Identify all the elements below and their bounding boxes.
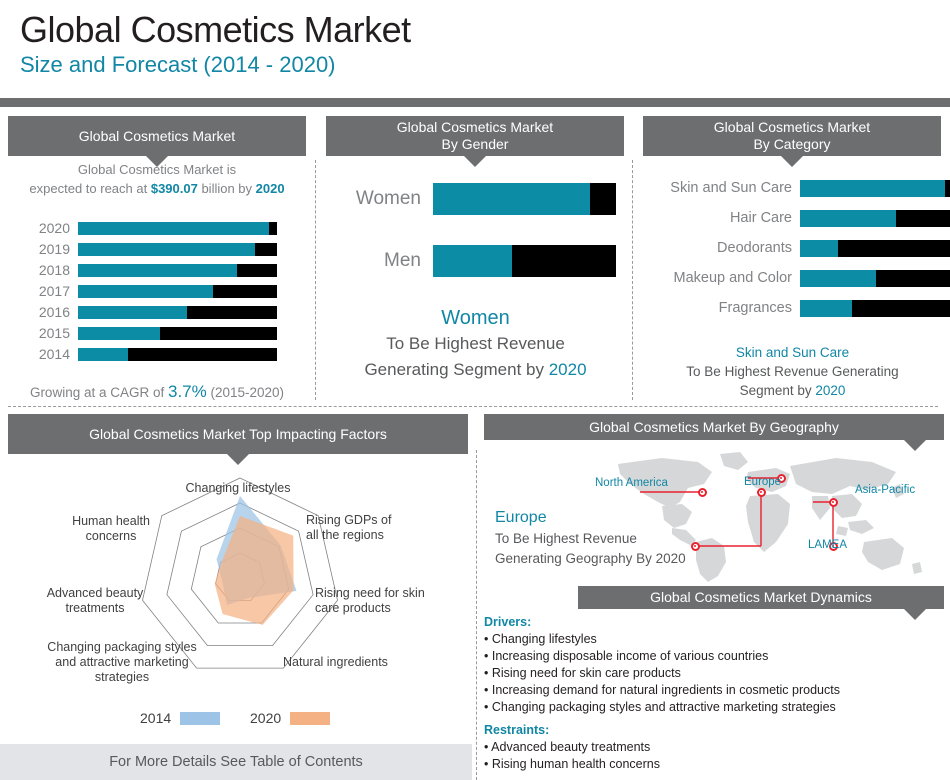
map-region-label[interactable]: Asia-Pacific — [855, 484, 915, 497]
caret-down-icon — [227, 454, 249, 465]
panel-header-dynamics-label: Global Cosmetics Market Dynamics — [650, 589, 872, 606]
category-bar-row: Fragrances — [644, 300, 944, 317]
radar-axis-label: Natural ingredients — [283, 655, 393, 670]
market-cagr-text: Growing at a CAGR of 3.7% (2015-2020) — [8, 382, 306, 402]
cagr-suffix: (2015-2020) — [207, 385, 284, 400]
legend-label: 2020 — [250, 710, 281, 726]
gender-summary-pre: Generating Segment by — [364, 360, 548, 379]
gender-bar-fill — [433, 183, 590, 215]
year-bar-label: 2016 — [20, 306, 70, 319]
year-bar-fill — [78, 264, 237, 277]
dynamics-item: • Rising human health concerns — [484, 756, 944, 773]
panel-header-category: Global Cosmetics Market By Category — [643, 116, 941, 156]
year-bar-track — [78, 243, 277, 256]
year-bar-fill — [78, 285, 213, 298]
year-bar-row: 2018 — [20, 264, 300, 277]
category-bar-label: Fragrances — [644, 300, 792, 317]
geography-highlight: Europe — [495, 508, 705, 528]
gender-summary-line1: To Be Highest Revenue — [328, 331, 623, 357]
year-bar-fill — [78, 243, 255, 256]
category-summary-year: 2020 — [815, 383, 845, 398]
map-marker-dot[interactable] — [698, 488, 707, 497]
caret-down-icon — [781, 156, 803, 167]
map-region-label[interactable]: North America — [595, 477, 668, 490]
radar-axis-label: Rising GDPs of all the regions — [306, 513, 398, 543]
category-bar-track — [800, 300, 950, 317]
category-bar-row: Makeup and Color — [644, 270, 944, 287]
market-lead-text: Global Cosmetics Market is expected to r… — [8, 160, 306, 198]
year-bar-fill — [78, 222, 269, 235]
year-bar-track — [78, 327, 277, 340]
year-bar-row: 2019 — [20, 243, 300, 256]
dynamics-item: • Increasing disposable income of variou… — [484, 648, 944, 665]
title-divider-rule — [0, 98, 950, 107]
year-bar-row: 2014 — [20, 348, 300, 361]
year-bar-fill — [78, 327, 160, 340]
year-bar-row: 2017 — [20, 285, 300, 298]
year-bar-track — [78, 222, 277, 235]
category-bar-fill — [800, 300, 852, 317]
gender-bar-fill — [433, 245, 512, 277]
category-bar-fill — [800, 180, 945, 197]
category-bar-track — [800, 210, 950, 227]
category-bar-track — [800, 240, 950, 257]
geography-summary-line2: Generating Geography By 2020 — [495, 551, 686, 566]
panel-header-geography: Global Cosmetics Market By Geography — [484, 414, 944, 440]
radar-axis-label: Human health concerns — [62, 514, 160, 544]
category-summary: Skin and Sun Care To Be Highest Revenue … — [640, 343, 945, 400]
infographic-page: Global Cosmetics Market Size and Forecas… — [0, 0, 950, 780]
category-bar-fill — [800, 270, 876, 287]
panel-header-dynamics: Global Cosmetics Market Dynamics — [578, 586, 944, 609]
category-bar-row: Skin and Sun Care — [644, 180, 944, 197]
radar-axis-label: Changing packaging styles and attractive… — [46, 640, 198, 685]
page-title-block: Global Cosmetics Market Size and Forecas… — [20, 8, 411, 80]
market-lead-year: 2020 — [256, 181, 285, 196]
category-highlight: Skin and Sun Care — [640, 343, 945, 362]
panel-header-market-label: Global Cosmetics Market — [79, 128, 235, 145]
radar-axis-label: Advanced beauty treatments — [40, 586, 150, 616]
panel-header-geography-label: Global Cosmetics Market By Geography — [589, 419, 839, 436]
dynamics-item: • Rising need for skin care products — [484, 665, 944, 682]
category-bar-track — [800, 180, 950, 197]
radar-axis-label: Rising need for skin care products — [315, 586, 425, 616]
year-bar-track — [78, 264, 277, 277]
dynamics-item: • Changing packaging styles and attracti… — [484, 699, 944, 716]
year-bar-track — [78, 285, 277, 298]
market-lead-post: billion by — [198, 181, 256, 196]
category-bar-row: Hair Care — [644, 210, 944, 227]
restraints-title: Restraints: — [484, 722, 944, 739]
market-lead-line1: Global Cosmetics Market is — [8, 160, 306, 179]
restraints-items: • Advanced beauty treatments• Rising hum… — [484, 739, 944, 773]
panel-header-factors-label: Global Cosmetics Market Top Impacting Fa… — [89, 426, 387, 443]
footer-label: For More Details See Table of Contents — [109, 754, 363, 770]
year-bar-row: 2016 — [20, 306, 300, 319]
dynamics-item: • Changing lifestyles — [484, 631, 944, 648]
market-lead-line2: expected to reach at $390.07 billion by … — [8, 179, 306, 198]
category-bar-fill — [800, 210, 896, 227]
gender-bar-row: Men — [329, 245, 619, 277]
category-bar-row: Deodorants — [644, 240, 944, 257]
footer-bar[interactable]: For More Details See Table of Contents — [0, 744, 472, 780]
map-region-label[interactable]: Europe — [744, 476, 781, 489]
year-bar-row: 2015 — [20, 327, 300, 340]
dynamics-list: Drivers: • Changing lifestyles• Increasi… — [484, 614, 944, 773]
panel-header-gender-line2: By Gender — [442, 136, 509, 153]
gender-bar-label: Men — [329, 245, 421, 277]
panel-header-category-line2: By Category — [753, 136, 830, 153]
drivers-items: • Changing lifestyles• Increasing dispos… — [484, 631, 944, 716]
year-bar-track — [78, 348, 277, 361]
drivers-title: Drivers: — [484, 614, 944, 631]
cagr-value: 3.7% — [168, 382, 207, 401]
market-lead-mid: expected to reach at — [29, 181, 150, 196]
map-marker-dot[interactable] — [829, 498, 838, 507]
geography-summary: Europe To Be Highest Revenue Generating … — [495, 508, 705, 569]
gender-summary: Women To Be Highest Revenue Generating S… — [328, 305, 623, 383]
category-summary-line2: Segment by 2020 — [640, 381, 945, 400]
caret-down-icon — [464, 156, 486, 167]
year-bar-label: 2015 — [20, 327, 70, 340]
year-bar-label: 2019 — [20, 243, 70, 256]
page-subtitle: Size and Forecast (2014 - 2020) — [20, 50, 411, 80]
radar-legend: 20142020 — [140, 710, 340, 730]
year-bar-label: 2018 — [20, 264, 70, 277]
panel-header-factors: Global Cosmetics Market Top Impacting Fa… — [8, 414, 468, 454]
divider-panel4-panel5 — [476, 450, 477, 780]
gender-bar-row: Women — [329, 183, 619, 215]
category-summary-pre: Segment by — [740, 383, 816, 398]
category-bar-label: Makeup and Color — [644, 270, 792, 287]
divider-panel2-panel3 — [632, 160, 633, 400]
gender-summary-year: 2020 — [549, 360, 587, 379]
dynamics-item: • Increasing demand for natural ingredie… — [484, 682, 944, 699]
category-bar-label: Skin and Sun Care — [644, 180, 792, 197]
gender-highlight: Women — [328, 305, 623, 331]
geography-summary-line1: To Be Highest Revenue — [495, 531, 637, 546]
category-bar-fill — [800, 240, 838, 257]
category-bar-track — [800, 270, 950, 287]
market-value: $390.07 — [151, 181, 198, 196]
year-bar-fill — [78, 348, 128, 361]
gender-summary-line2: Generating Segment by 2020 — [328, 357, 623, 383]
legend-swatch — [290, 712, 330, 725]
gender-bar-label: Women — [329, 183, 421, 215]
year-bar-fill — [78, 306, 187, 319]
year-bar-label: 2014 — [20, 348, 70, 361]
map-region-label[interactable]: LAMEA — [808, 539, 847, 552]
divider-panel1-panel2 — [315, 160, 316, 400]
category-bar-label: Deodorants — [644, 240, 792, 257]
legend-swatch — [180, 712, 220, 725]
gender-bar-track — [433, 245, 616, 277]
panel-header-gender-line1: Global Cosmetics Market — [397, 119, 553, 136]
category-bar-label: Hair Care — [644, 210, 792, 227]
divider-top-bottom — [8, 406, 938, 407]
panel-header-category-line1: Global Cosmetics Market — [714, 119, 870, 136]
page-title: Global Cosmetics Market — [20, 8, 411, 52]
radar-axis-label: Changing lifestyles — [178, 481, 298, 496]
panel-header-market: Global Cosmetics Market — [8, 116, 306, 156]
category-summary-line1: To Be Highest Revenue Generating — [640, 362, 945, 381]
year-bar-row: 2020 — [20, 222, 300, 235]
year-bar-track — [78, 306, 277, 319]
year-bar-label: 2020 — [20, 222, 70, 235]
gender-bar-track — [433, 183, 616, 215]
cagr-prefix: Growing at a CAGR of — [30, 385, 168, 400]
year-bar-label: 2017 — [20, 285, 70, 298]
panel-header-gender: Global Cosmetics Market By Gender — [326, 116, 624, 156]
legend-label: 2014 — [140, 710, 171, 726]
dynamics-item: • Advanced beauty treatments — [484, 739, 944, 756]
